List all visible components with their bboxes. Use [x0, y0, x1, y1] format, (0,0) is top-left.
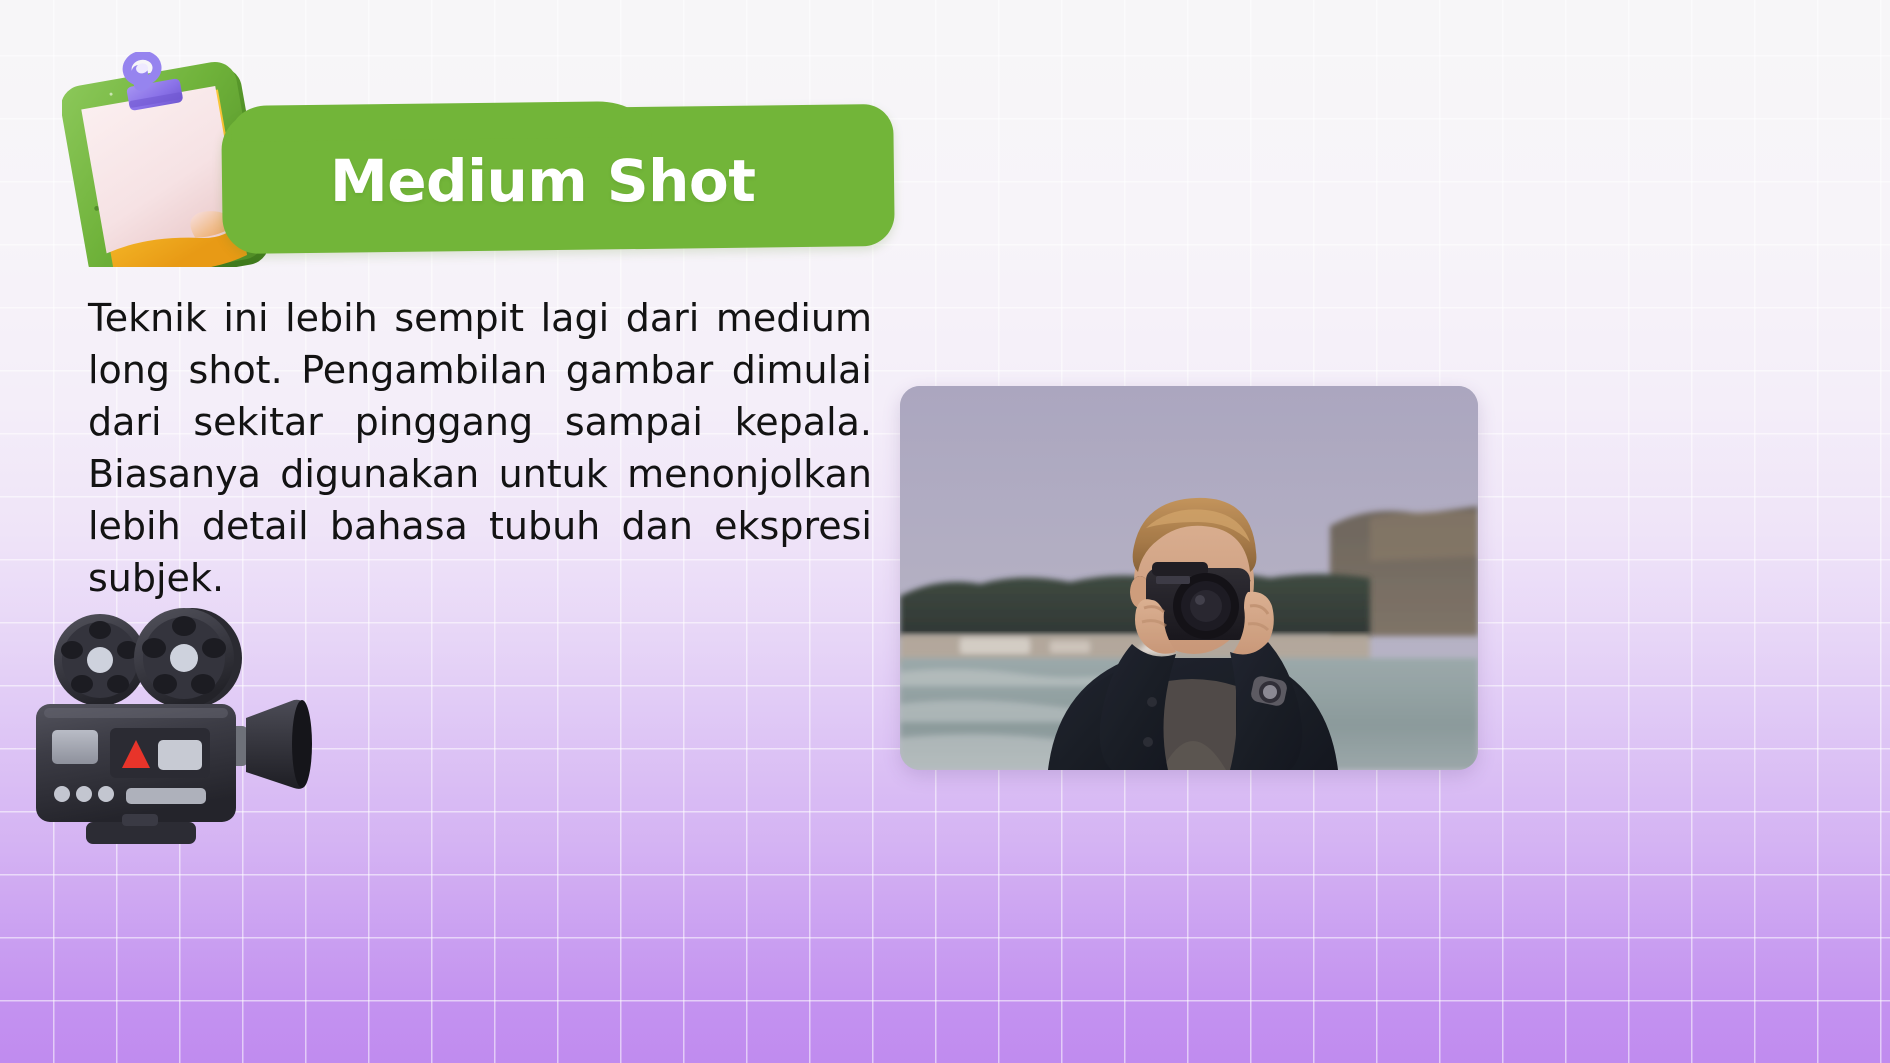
- body-paragraph: Teknik ini lebih sempit lagi dari medium…: [88, 292, 872, 604]
- slide-root: Medium Shot Teknik ini lebih sempit lagi…: [0, 0, 1890, 1063]
- movie-camera-icon: [26, 608, 326, 856]
- page-title: Medium Shot: [330, 136, 890, 226]
- photo-card: [900, 386, 1478, 770]
- man-holding-camera-photo: [900, 386, 1478, 770]
- movie-camera-svg: [26, 608, 326, 856]
